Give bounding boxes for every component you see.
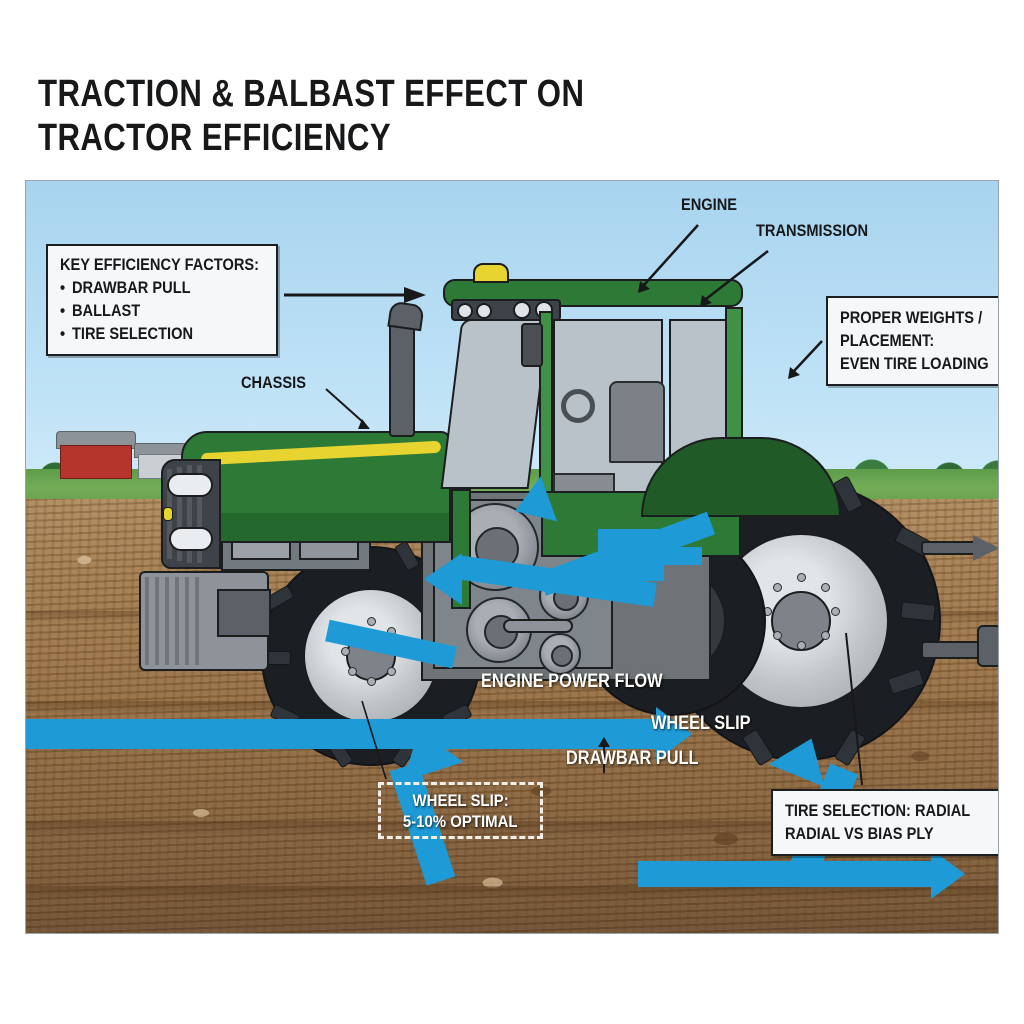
weights-line-3: EVEN TIRE LOADING (840, 352, 979, 375)
key-factors-list: DRAWBAR PULL BALLAST TIRE SELECTION (60, 276, 264, 345)
key-factor-item: TIRE SELECTION (60, 322, 235, 345)
page-title: TRACTION & BALBAST EFFECT ON TRACTOR EFF… (38, 72, 738, 160)
wheel-slip-line-2: 5-10% OPTIMAL (403, 811, 518, 832)
tire-line-2: RADIAL VS BIAS PLY (785, 822, 960, 845)
illustration-panel: KEY EFFICIENCY FACTORS: DRAWBAR PULL BAL… (25, 180, 999, 934)
label-engine: ENGINE (681, 195, 737, 215)
label-chassis: CHASSIS (241, 373, 306, 393)
label-wheel-slip: WHEEL SLIP (651, 713, 751, 735)
key-factor-item: BALLAST (60, 299, 235, 322)
callout-key-efficiency-factors[interactable]: KEY EFFICIENCY FACTORS: DRAWBAR PULL BAL… (46, 244, 278, 356)
callout-wheel-slip[interactable]: WHEEL SLIP: 5-10% OPTIMAL (378, 782, 543, 839)
label-drawbar-pull: DRAWBAR PULL (566, 748, 699, 770)
callout-key-heading: KEY EFFICIENCY FACTORS: (60, 254, 235, 276)
label-transmission: TRANSMISSION (756, 221, 868, 241)
title-line-2: TRACTOR EFFICIENCY (38, 116, 612, 160)
weights-line-2: PLACEMENT: (840, 329, 979, 352)
weights-line-1: PROPER WEIGHTS / (840, 306, 979, 329)
callout-tire-selection[interactable]: TIRE SELECTION: RADIAL RADIAL VS BIAS PL… (771, 789, 999, 856)
callout-proper-weights[interactable]: PROPER WEIGHTS / PLACEMENT: EVEN TIRE LO… (826, 296, 999, 386)
label-engine-power-flow: ENGINE POWER FLOW (481, 671, 663, 693)
tire-line-1: TIRE SELECTION: RADIAL (785, 799, 960, 822)
key-factor-item: DRAWBAR PULL (60, 276, 235, 299)
wheel-slip-line-1: WHEEL SLIP: (412, 790, 508, 811)
title-line-1: TRACTION & BALBAST EFFECT ON (38, 72, 612, 116)
